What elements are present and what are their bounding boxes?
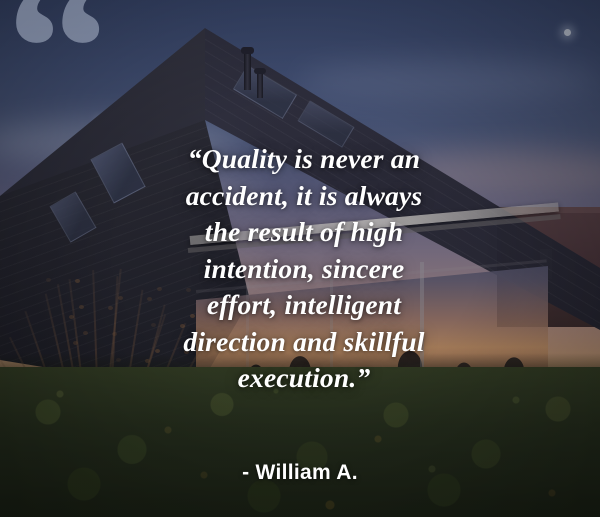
shrub-leaf [108,306,113,310]
shrub-leaf [118,296,123,300]
quote-line: execution.” [128,360,480,397]
shrub-leaf [73,341,78,345]
quote-card: “ “Quality is never an accident, it is a… [0,0,600,517]
quote-line: accident, it is always [128,178,480,215]
shrub-leaf [79,305,84,309]
shrub-leaf [112,332,117,336]
quote-line: the result of high [128,214,480,251]
chimney-pipe [257,72,263,98]
quote-line: direction and skillful [128,324,480,361]
shrub-leaf [69,315,74,319]
shrub-leaf [46,278,51,282]
chimney-pipe [244,52,251,90]
quote-line: intention, sincere [128,251,480,288]
quote-line: effort, intelligent [128,287,480,324]
quote-text: “Quality is never an accident, it is alw… [128,141,480,397]
shrub-leaf [75,279,80,283]
quote-author: - William A. [0,461,600,485]
shrub-leaf [83,331,88,335]
quotation-mark-icon: “ [6,0,105,154]
quote-line: “Quality is never an [128,141,480,178]
